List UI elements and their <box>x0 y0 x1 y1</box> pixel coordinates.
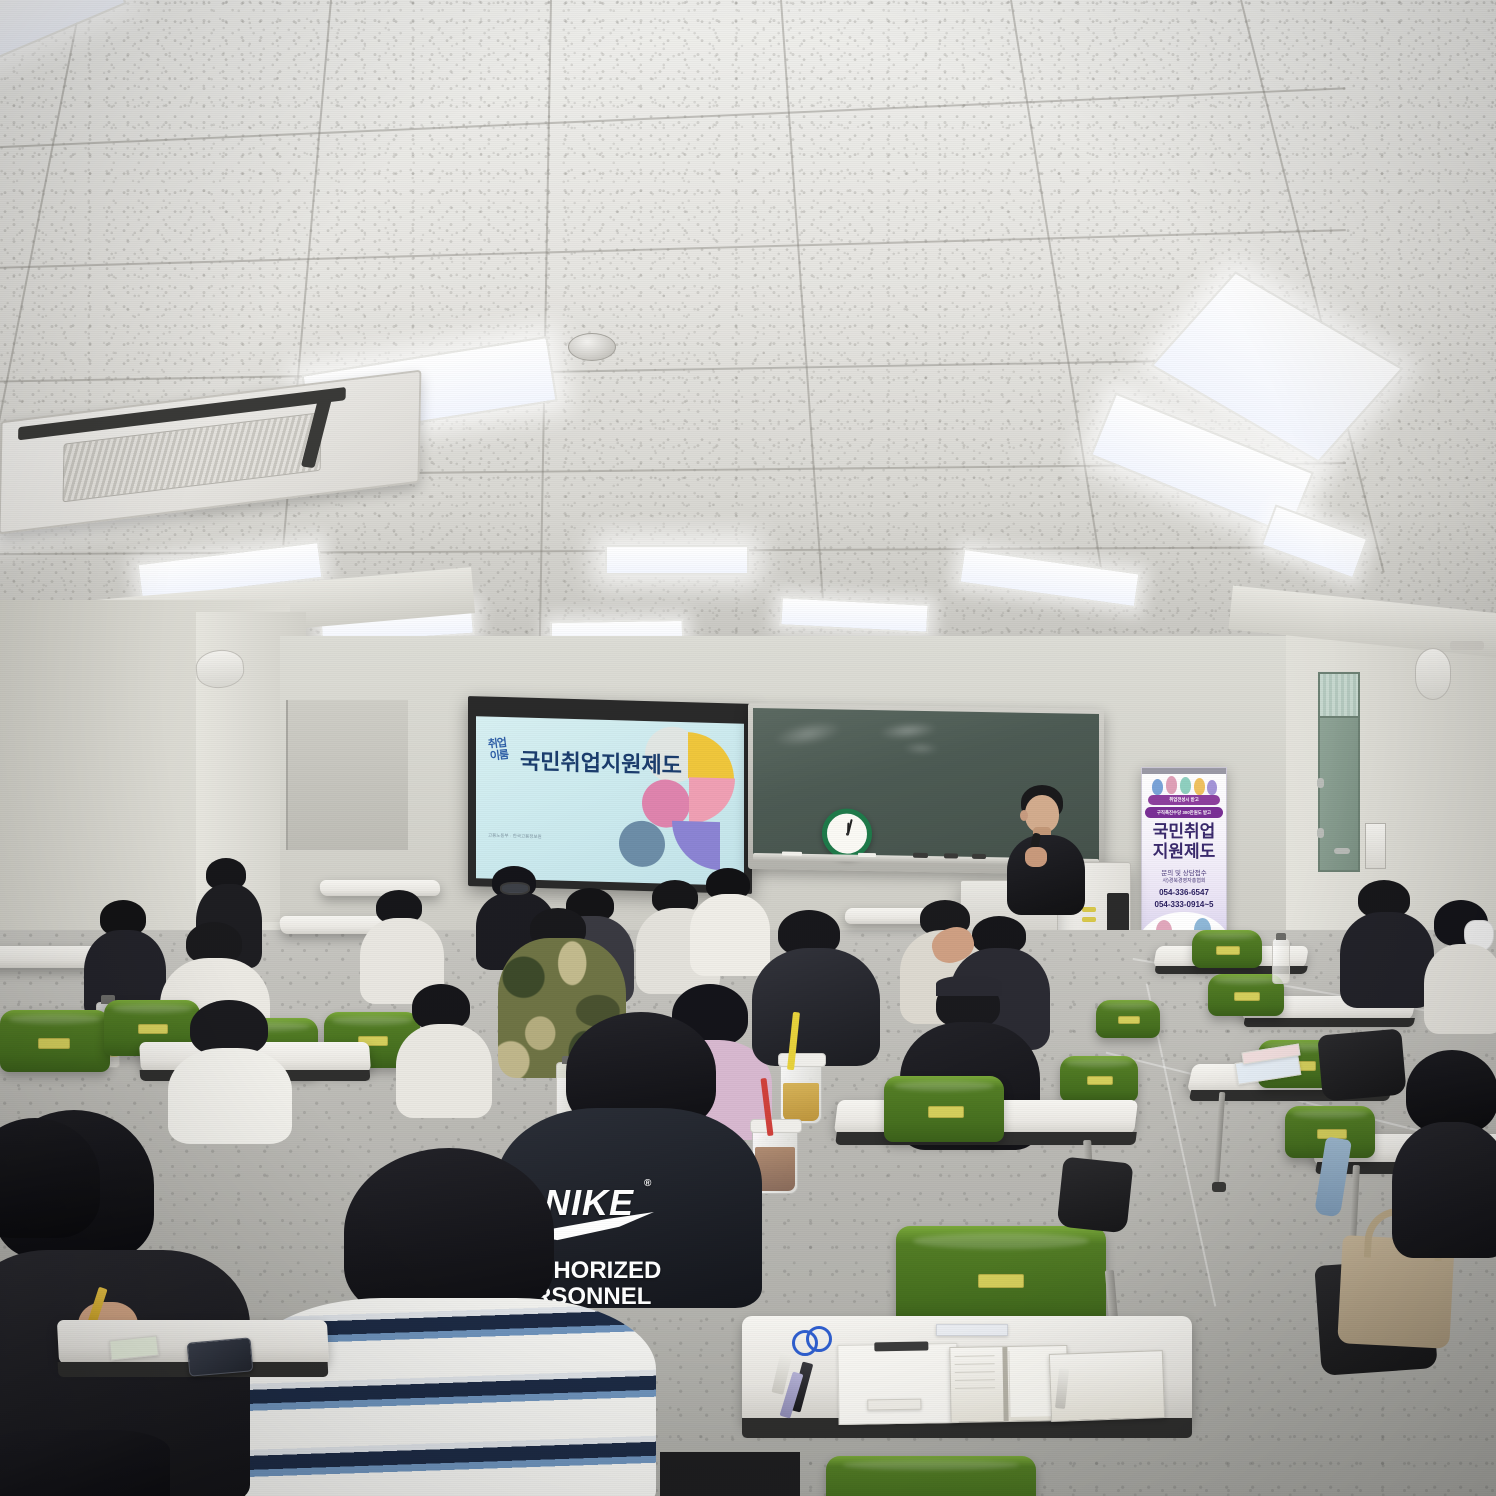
bottle-cap <box>1276 933 1286 940</box>
banner-phone-2: 054-333-0914~5 <box>1142 900 1226 909</box>
door-handle[interactable] <box>1334 848 1350 854</box>
ceiling-light-panel <box>605 545 749 575</box>
attendee-torso <box>0 1430 170 1496</box>
chair[interactable] <box>826 1456 1036 1496</box>
chair-asset-tag <box>138 1024 168 1034</box>
attendee-torso <box>752 948 880 1066</box>
clock-center <box>846 833 849 836</box>
presenter-hand <box>1025 847 1047 867</box>
wall-control-panel[interactable] <box>1365 823 1386 869</box>
iced-drink-cup <box>780 1060 822 1124</box>
slide-shape-blue-circle <box>619 820 665 867</box>
door-hinge <box>1317 778 1324 788</box>
board-glare <box>877 720 938 741</box>
banner-org: 사)경북경영자총협회 <box>1142 877 1226 884</box>
banner-pill-1: 취업전성시 받고 <box>1148 795 1220 805</box>
desk-under-shadow <box>660 1452 800 1496</box>
attendee-torso <box>168 1048 292 1144</box>
banner-figure <box>1152 779 1163 795</box>
chair[interactable] <box>1192 930 1262 968</box>
presenter-torso <box>1007 835 1085 915</box>
chair-asset-tag <box>1118 1016 1140 1024</box>
desk-edge <box>1243 1018 1415 1027</box>
clipboard-clip <box>874 1341 928 1351</box>
banner-figure <box>1180 777 1191 794</box>
chair[interactable] <box>1096 1000 1160 1038</box>
chair[interactable] <box>1060 1056 1138 1102</box>
classroom-photo: 취업 이룸 국민취업지원제도 고용노동부 · 한국고용정보원 <box>0 0 1496 1496</box>
left-wall-recess <box>286 700 408 850</box>
banner-top-bar <box>1142 768 1226 774</box>
pen-on-notepad <box>1055 1368 1069 1409</box>
board-eraser <box>972 854 986 859</box>
slide-shape-yellow-quarter <box>688 732 734 779</box>
attendee <box>1340 880 1434 1004</box>
chair-asset-tag <box>1216 946 1240 955</box>
glasses-icon <box>500 882 530 895</box>
attendee-torso <box>396 1024 492 1118</box>
smartphone[interactable] <box>187 1337 254 1376</box>
banner-title-line2: 지원제도 <box>1142 843 1226 861</box>
board-glare <box>771 716 844 751</box>
slide-shape-pink-quarter <box>689 777 735 824</box>
chair[interactable] <box>0 1010 110 1072</box>
chair[interactable] <box>884 1076 1004 1142</box>
desk-foot <box>1212 1182 1226 1192</box>
attendee <box>0 1118 110 1298</box>
wall-speaker-icon <box>1415 648 1451 700</box>
chalk-piece <box>858 853 876 857</box>
attendee-hair <box>344 1148 554 1318</box>
notepad <box>1049 1350 1165 1422</box>
attendee <box>1392 1050 1496 1250</box>
podium-button[interactable] <box>1082 917 1096 922</box>
attendee-torso <box>1340 912 1434 1008</box>
attendee <box>0 1430 170 1496</box>
slide-logo-line2: 이룸 <box>489 750 509 763</box>
blue-pen-case <box>936 1324 1008 1336</box>
wall-clock <box>822 808 872 859</box>
chalk-piece <box>782 851 802 855</box>
bag <box>1057 1157 1134 1234</box>
presenter <box>1005 785 1095 915</box>
slide-shape-purple-quarter <box>672 821 720 870</box>
board-glare <box>903 743 939 755</box>
chair-asset-tag <box>38 1038 70 1049</box>
attendee-torso <box>1392 1122 1496 1258</box>
attendee <box>396 984 492 1114</box>
attendee-masked <box>1424 900 1496 1030</box>
banner-figure <box>1207 780 1217 795</box>
chair-asset-tag <box>1234 992 1260 1001</box>
presenter-ear <box>1020 810 1028 821</box>
attendee-torso <box>1424 944 1496 1034</box>
slide-title: 국민취업지원제도 <box>520 743 682 780</box>
notebook-rules <box>955 1355 995 1357</box>
exit-door[interactable] <box>1318 716 1360 872</box>
banner-contact-label: 문의 및 상담접수 <box>1142 867 1226 877</box>
cup-lid <box>778 1053 826 1067</box>
attendee <box>752 910 880 1060</box>
roll-up-banner: 취업전성시 받고 구직촉진수당 300만원도 받고 국민취업 지원제도 문의 및… <box>1141 767 1227 947</box>
banner-figure <box>1166 776 1177 794</box>
banner-figure <box>1194 778 1205 795</box>
paper-note <box>867 1399 921 1411</box>
speaker-mount <box>1450 641 1484 650</box>
clipboard <box>837 1343 958 1425</box>
scissors-icon <box>806 1326 832 1352</box>
chair-asset-tag <box>1087 1076 1113 1085</box>
chair-asset-tag <box>978 1274 1024 1288</box>
chair[interactable] <box>896 1226 1106 1326</box>
attendee-hair <box>0 1118 100 1238</box>
cup-contents <box>783 1083 819 1121</box>
projection-screen: 취업 이룸 국민취업지원제도 고용노동부 · 한국고용정보원 <box>468 696 752 894</box>
banner-phone-1: 054-336-6547 <box>1142 888 1226 897</box>
slide-subtitle: 고용노동부 · 한국고용정보원 <box>488 833 542 840</box>
presentation-slide: 취업 이룸 국민취업지원제도 고용노동부 · 한국고용정보원 <box>476 716 744 885</box>
cap-icon <box>936 976 1002 996</box>
board-eraser <box>944 853 958 858</box>
banner-pill-2: 구직촉진수당 300만원도 받고 <box>1145 807 1223 818</box>
drink-bottle <box>1272 938 1290 984</box>
ceiling <box>0 0 1496 645</box>
door-hinge <box>1317 828 1324 838</box>
board-eraser <box>913 853 928 858</box>
banner-title-line1: 국민취업 <box>1142 823 1226 841</box>
chair-asset-tag <box>928 1106 964 1118</box>
attendee <box>168 1000 292 1140</box>
